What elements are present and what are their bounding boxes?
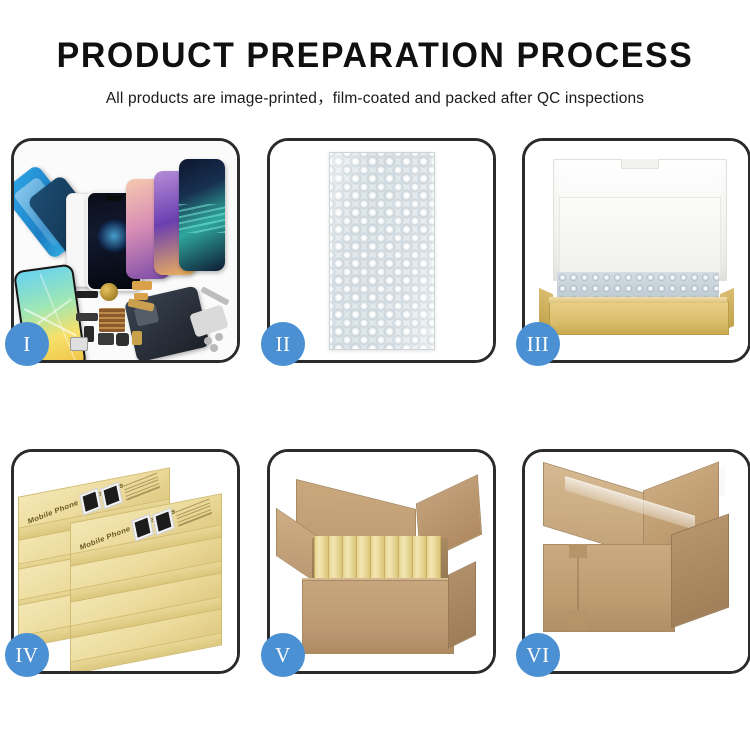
box-screen-image-2 bbox=[100, 482, 123, 510]
bubble-wrap-sheet bbox=[329, 152, 435, 350]
stacked-boxes-illustration: Mobile Phone Spare Parts bbox=[14, 452, 237, 671]
process-step-panel-2: II bbox=[267, 138, 496, 363]
foam-insert bbox=[559, 197, 721, 277]
bubble-wrap-edge-right bbox=[432, 153, 435, 349]
step-1-image bbox=[14, 141, 237, 360]
step-badge-4: IV bbox=[5, 633, 49, 677]
part-gold-contact bbox=[132, 331, 142, 345]
part-speaker bbox=[116, 333, 129, 346]
sealed-carton-illustration bbox=[525, 452, 748, 671]
part-flex-cable-1 bbox=[132, 281, 152, 290]
product-preparation-infographic: PRODUCT PREPARATION PROCESS All products… bbox=[0, 0, 750, 750]
step-6-image bbox=[525, 452, 748, 671]
page-title: PRODUCT PREPARATION PROCESS bbox=[11, 0, 739, 75]
process-steps-grid: I II bbox=[0, 138, 750, 688]
open-inner-box-illustration bbox=[525, 141, 748, 360]
part-connector bbox=[76, 291, 98, 298]
open-carton-illustration bbox=[270, 452, 493, 671]
box-spec-lines-back bbox=[124, 473, 161, 503]
step-badge-2: II bbox=[261, 322, 305, 366]
step-4-image: Mobile Phone Spare Parts bbox=[14, 452, 237, 671]
part-screw-3 bbox=[210, 344, 218, 352]
teal-striped-phone bbox=[179, 159, 225, 271]
carton-tab-upper bbox=[569, 544, 587, 558]
process-step-panel-4: Mobile Phone Spare Parts bbox=[11, 449, 240, 674]
header: PRODUCT PREPARATION PROCESS All products… bbox=[0, 0, 750, 108]
part-vibrator-motor bbox=[100, 283, 118, 301]
carton-side-panel bbox=[448, 561, 476, 649]
box-rim bbox=[549, 297, 727, 303]
box-lid-tab bbox=[621, 159, 659, 169]
sealed-carton-front-face bbox=[543, 544, 675, 632]
step-badge-3: III bbox=[516, 322, 560, 366]
process-step-panel-3: III bbox=[522, 138, 750, 363]
phone-parts-illustration bbox=[14, 141, 237, 360]
step-5-image bbox=[270, 452, 493, 671]
step-2-image bbox=[270, 141, 493, 360]
box-screen-image-1 bbox=[79, 488, 102, 516]
process-step-panel-5: V bbox=[267, 449, 496, 674]
part-bracket bbox=[76, 313, 98, 321]
bubble-wrap-edge-left bbox=[329, 153, 332, 349]
part-camera-module bbox=[98, 333, 114, 345]
part-grid-module bbox=[99, 308, 125, 332]
bubble-wrap-sheen bbox=[330, 153, 434, 349]
part-tweezers bbox=[200, 286, 229, 305]
page-subtitle: All products are image-printed，film-coat… bbox=[0, 75, 750, 108]
box-screen-image-3 bbox=[131, 514, 154, 542]
part-sim-tray bbox=[70, 337, 88, 351]
step-badge-6: VI bbox=[516, 633, 560, 677]
bubble-wrap-illustration bbox=[270, 141, 493, 360]
process-step-panel-1: I bbox=[11, 138, 240, 363]
box-spec-lines-front bbox=[176, 499, 213, 529]
box-front-panel bbox=[549, 301, 729, 335]
step-badge-5: V bbox=[261, 633, 305, 677]
carton-tab-lower bbox=[569, 610, 587, 630]
box-screen-image-4 bbox=[152, 508, 175, 536]
sealed-carton-side-face bbox=[671, 513, 729, 628]
part-screw-2 bbox=[215, 333, 223, 341]
process-step-panel-6: VI bbox=[522, 449, 750, 674]
step-badge-1: I bbox=[5, 322, 49, 366]
carton-front-panel bbox=[302, 580, 454, 654]
step-3-image bbox=[525, 141, 748, 360]
